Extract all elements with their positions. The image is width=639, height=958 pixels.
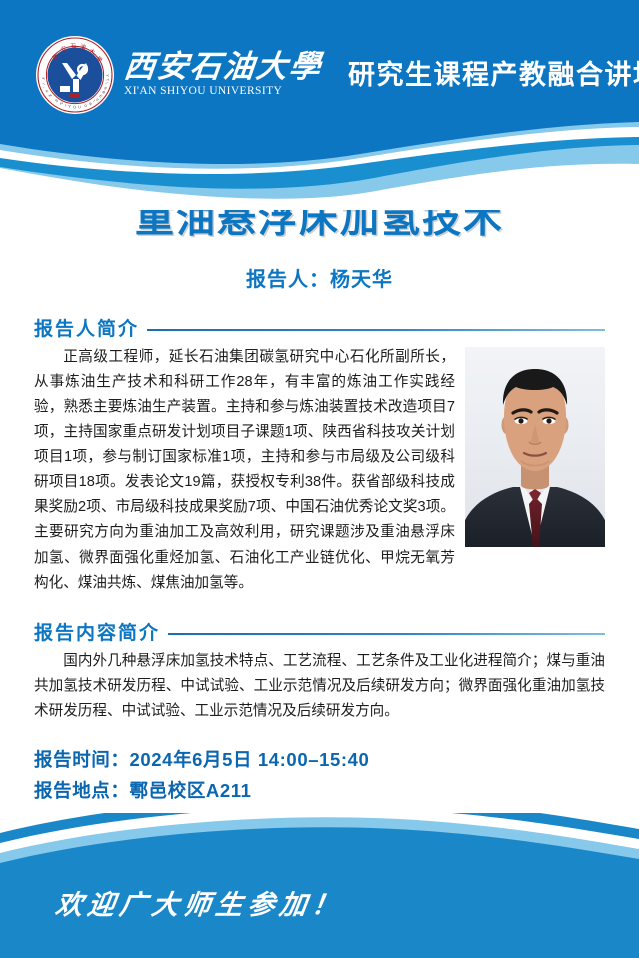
header-bar: 西 安 石 油 大 學 X I ' A N S H I Y [0,0,639,150]
event-meta: 报告时间：2024年6月5日 14:00–15:40 报告地点：鄠邑校区A211 [34,744,605,806]
poster-content: 重油悬浮床加氢技术 报告人：杨天华 报告人简介 [0,196,639,806]
section-heading-label: 报告内容简介 [34,618,160,645]
section-header-report-content: 报告内容简介 [34,618,605,645]
speaker-line: 报告人：杨天华 [34,263,605,292]
series-title: 研究生课程产教融合讲坛第 9 期 [348,62,639,89]
university-name-en: XI'AN SHIYOU UNIVERSITY [124,85,322,99]
event-time-row: 报告时间：2024年6月5日 14:00–15:40 [34,744,605,775]
svg-text:O: O [73,104,76,109]
speaker-portrait-photo [465,347,605,547]
report-content-paragraph: 国内外几种悬浮床加氢技术特点、工艺流程、工艺条件及工业化进程简介；煤与重油共加氢… [34,649,605,724]
section-header-speaker-bio: 报告人简介 [34,314,605,341]
poster-root: 西 安 石 油 大 學 X I ' A N S H I Y [0,0,639,958]
speaker-bio-paragraph: 正高级工程师，延长石油集团碳氢研究中心石化所副所长，从事炼油生产技术和科研工作2… [34,345,605,596]
event-place-label: 报告地点： [34,780,130,801]
university-wordmark: 西安石油大學 XI'AN SHIYOU UNIVERSITY [124,51,322,99]
event-place-value: 鄠邑校区A211 [130,780,252,801]
speaker-bio-text: 正高级工程师，延长石油集团碳氢研究中心石化所副所长，从事炼油生产技术和科研工作2… [34,349,455,591]
section-heading-label: 报告人简介 [34,314,139,341]
section-rule [168,633,605,635]
welcome-message: 欢迎广大师生参加！ [53,883,346,922]
university-emblem-icon: 西 安 石 油 大 學 X I ' A N S H I Y [36,36,114,114]
event-place-row: 报告地点：鄠邑校区A211 [34,775,605,806]
section-rule [147,329,605,331]
university-name-cn: 西安石油大學 [122,51,323,84]
event-time-value: 2024年6月5日 14:00–15:40 [130,749,370,770]
event-time-label: 报告时间： [34,749,130,770]
